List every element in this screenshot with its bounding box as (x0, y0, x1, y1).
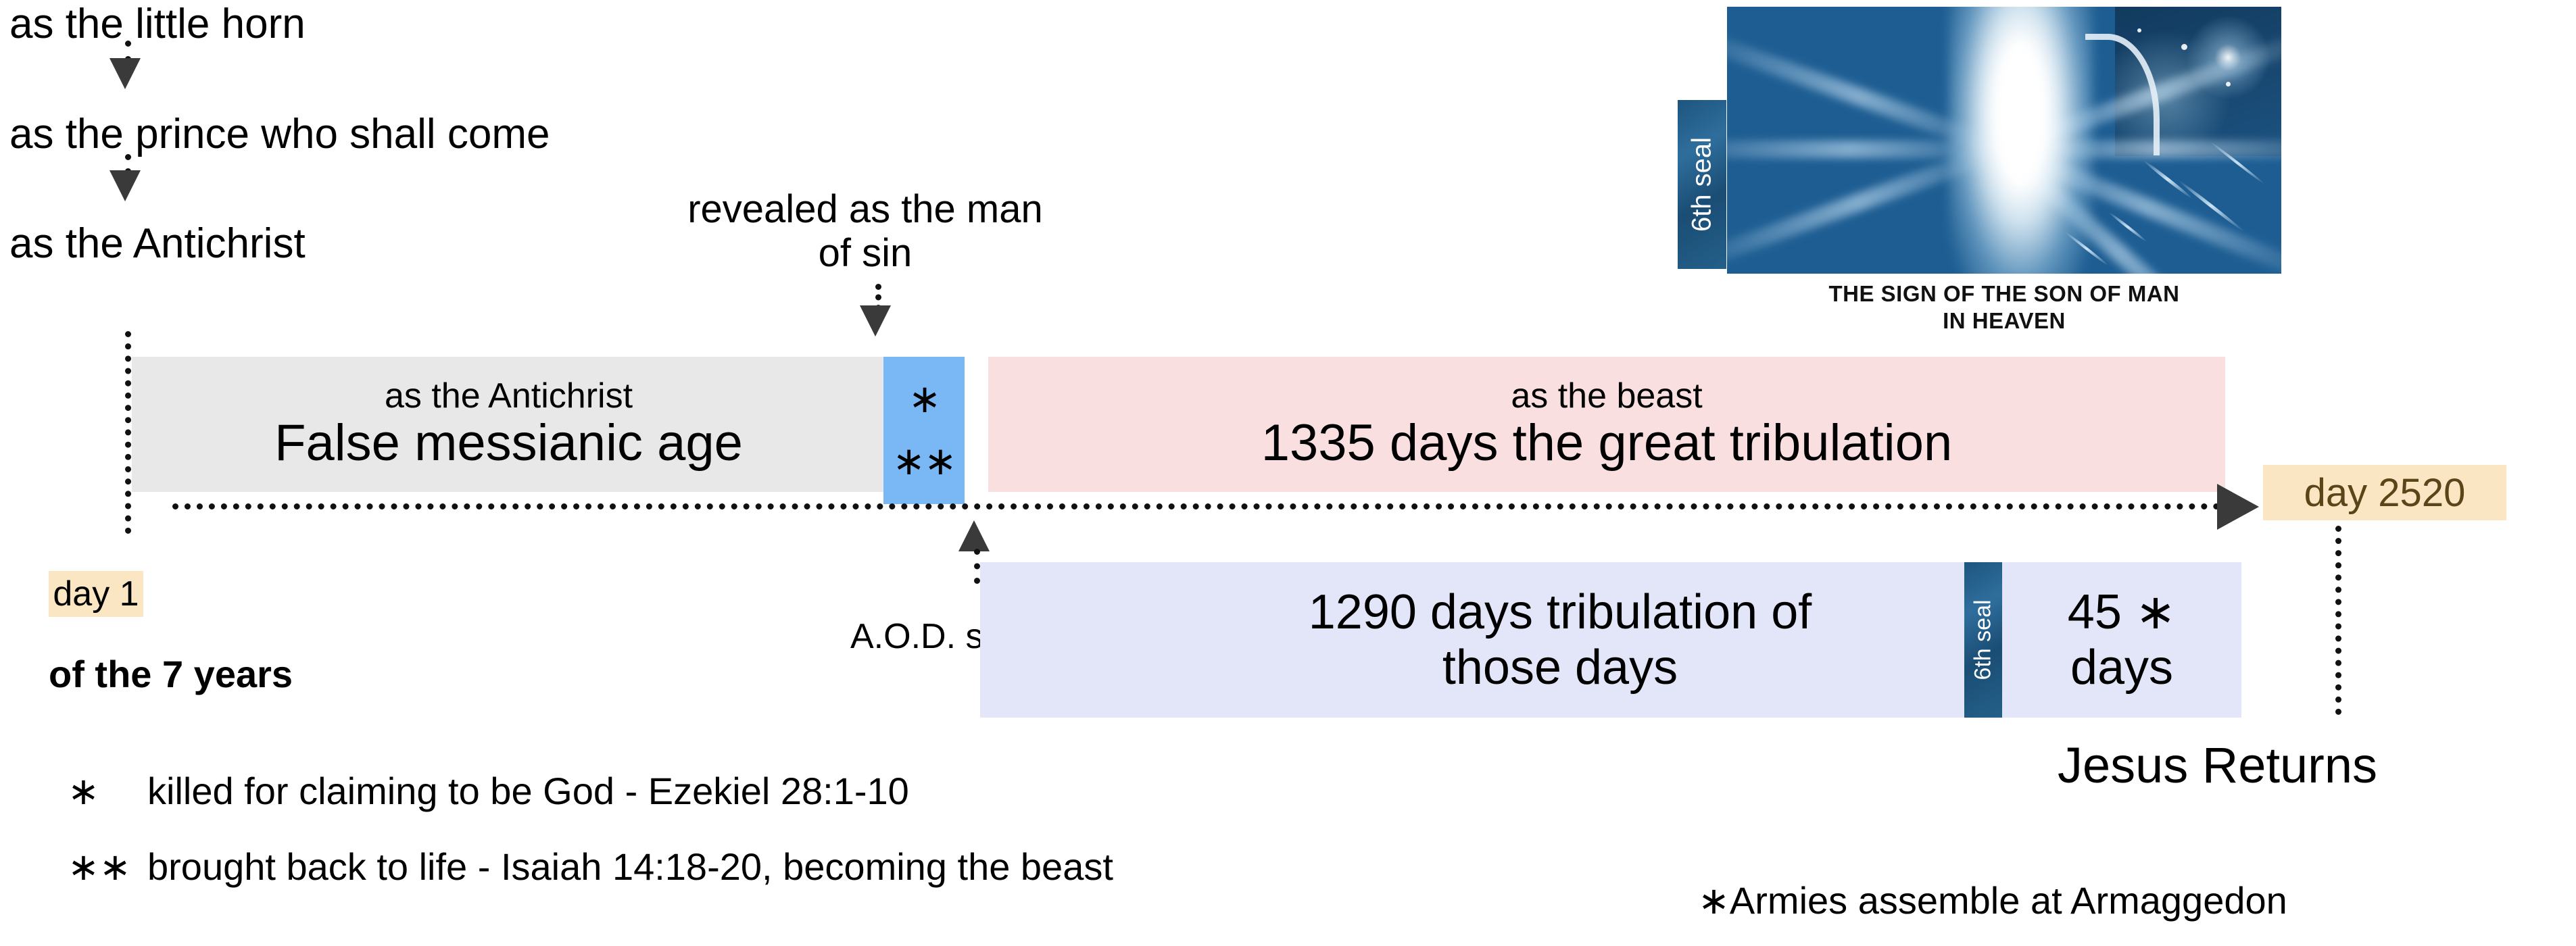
bar-tribulation-those-days: 1290 days tribulation of those days (980, 562, 1964, 718)
sixth-seal-tab-image: 6th seal (1678, 100, 1726, 269)
timeline-start-guide (125, 331, 131, 534)
bar-false-messianic-age: as the Antichrist False messianic age (132, 357, 885, 492)
arrow-right-icon-timeline (2217, 484, 2259, 530)
bar-forty-five-days-label: 45 ∗ days (2068, 584, 2176, 695)
sixth-seal-tab-timeline-label: 6th seal (1970, 599, 1997, 680)
sixth-seal-tab-image-label: 6th seal (1687, 137, 1718, 232)
sixth-seal-tab-timeline: 6th seal (1964, 562, 2002, 718)
bar-false-messianic-age-sublabel: as the Antichrist (385, 378, 633, 415)
revealed-as-man-of-sin-label: revealed as the man of sin (676, 188, 1054, 276)
aod-connector (974, 549, 980, 584)
arrow-down-icon-1 (110, 58, 141, 89)
star-speck (2137, 28, 2141, 32)
armies-assemble-note: ∗Armies assemble at Armaggedon (1698, 878, 2287, 923)
meteor-streak (2143, 159, 2193, 199)
arrow-down-icon-revealed (860, 305, 891, 337)
bar-false-messianic-age-label: False messianic age (274, 415, 743, 472)
footnote-1-text: killed for claiming to be God - Ezekiel … (147, 769, 909, 813)
arrow-down-icon-2 (110, 170, 141, 201)
resurrection-star-marker: ∗∗ (892, 442, 955, 481)
chip-day-2520: day 2520 (2263, 465, 2506, 520)
timeline-diagram: as the little horn as the prince who sha… (0, 0, 2576, 946)
hierarchy-item-prince-who-shall-come: as the prince who shall come (9, 114, 550, 155)
bar-tribulation-those-days-label: 1290 days tribulation of those days (1133, 584, 1812, 695)
bar-great-tribulation-label: 1335 days the great tribulation (1261, 415, 1952, 472)
star-speck (2226, 82, 2231, 86)
arrow-up-icon-aod (958, 520, 990, 551)
chip-day-1: day 1 (49, 571, 143, 617)
of-the-7-years-label: of the 7 years (49, 652, 293, 696)
jesus-returns-guide (2335, 526, 2341, 715)
jesus-returns-label: Jesus Returns (2058, 737, 2377, 794)
central-glow (1949, 7, 2093, 274)
footnote-2-marker: ∗∗ (68, 845, 131, 889)
hierarchy-item-little-horn: as the little horn (9, 3, 306, 45)
bar-great-tribulation-sublabel: as the beast (1511, 378, 1702, 415)
footnote-2-text: brought back to life - Isaiah 14:18-20, … (147, 845, 1113, 889)
bar-great-tribulation: as the beast 1335 days the great tribula… (988, 357, 2225, 492)
bar-forty-five-days: 45 ∗ days (2002, 562, 2241, 718)
sign-of-son-of-man-image (1727, 7, 2281, 274)
hierarchy-item-antichrist: as the Antichrist (9, 223, 306, 265)
death-star-marker: ∗ (908, 380, 940, 419)
timeline-axis (172, 503, 2220, 509)
image-caption: THE SIGN OF THE SON OF MAN IN HEAVEN (1727, 280, 2281, 335)
footnote-1-marker: ∗ (68, 769, 99, 814)
bar-death-resurrection: ∗ ∗∗ (883, 357, 965, 504)
